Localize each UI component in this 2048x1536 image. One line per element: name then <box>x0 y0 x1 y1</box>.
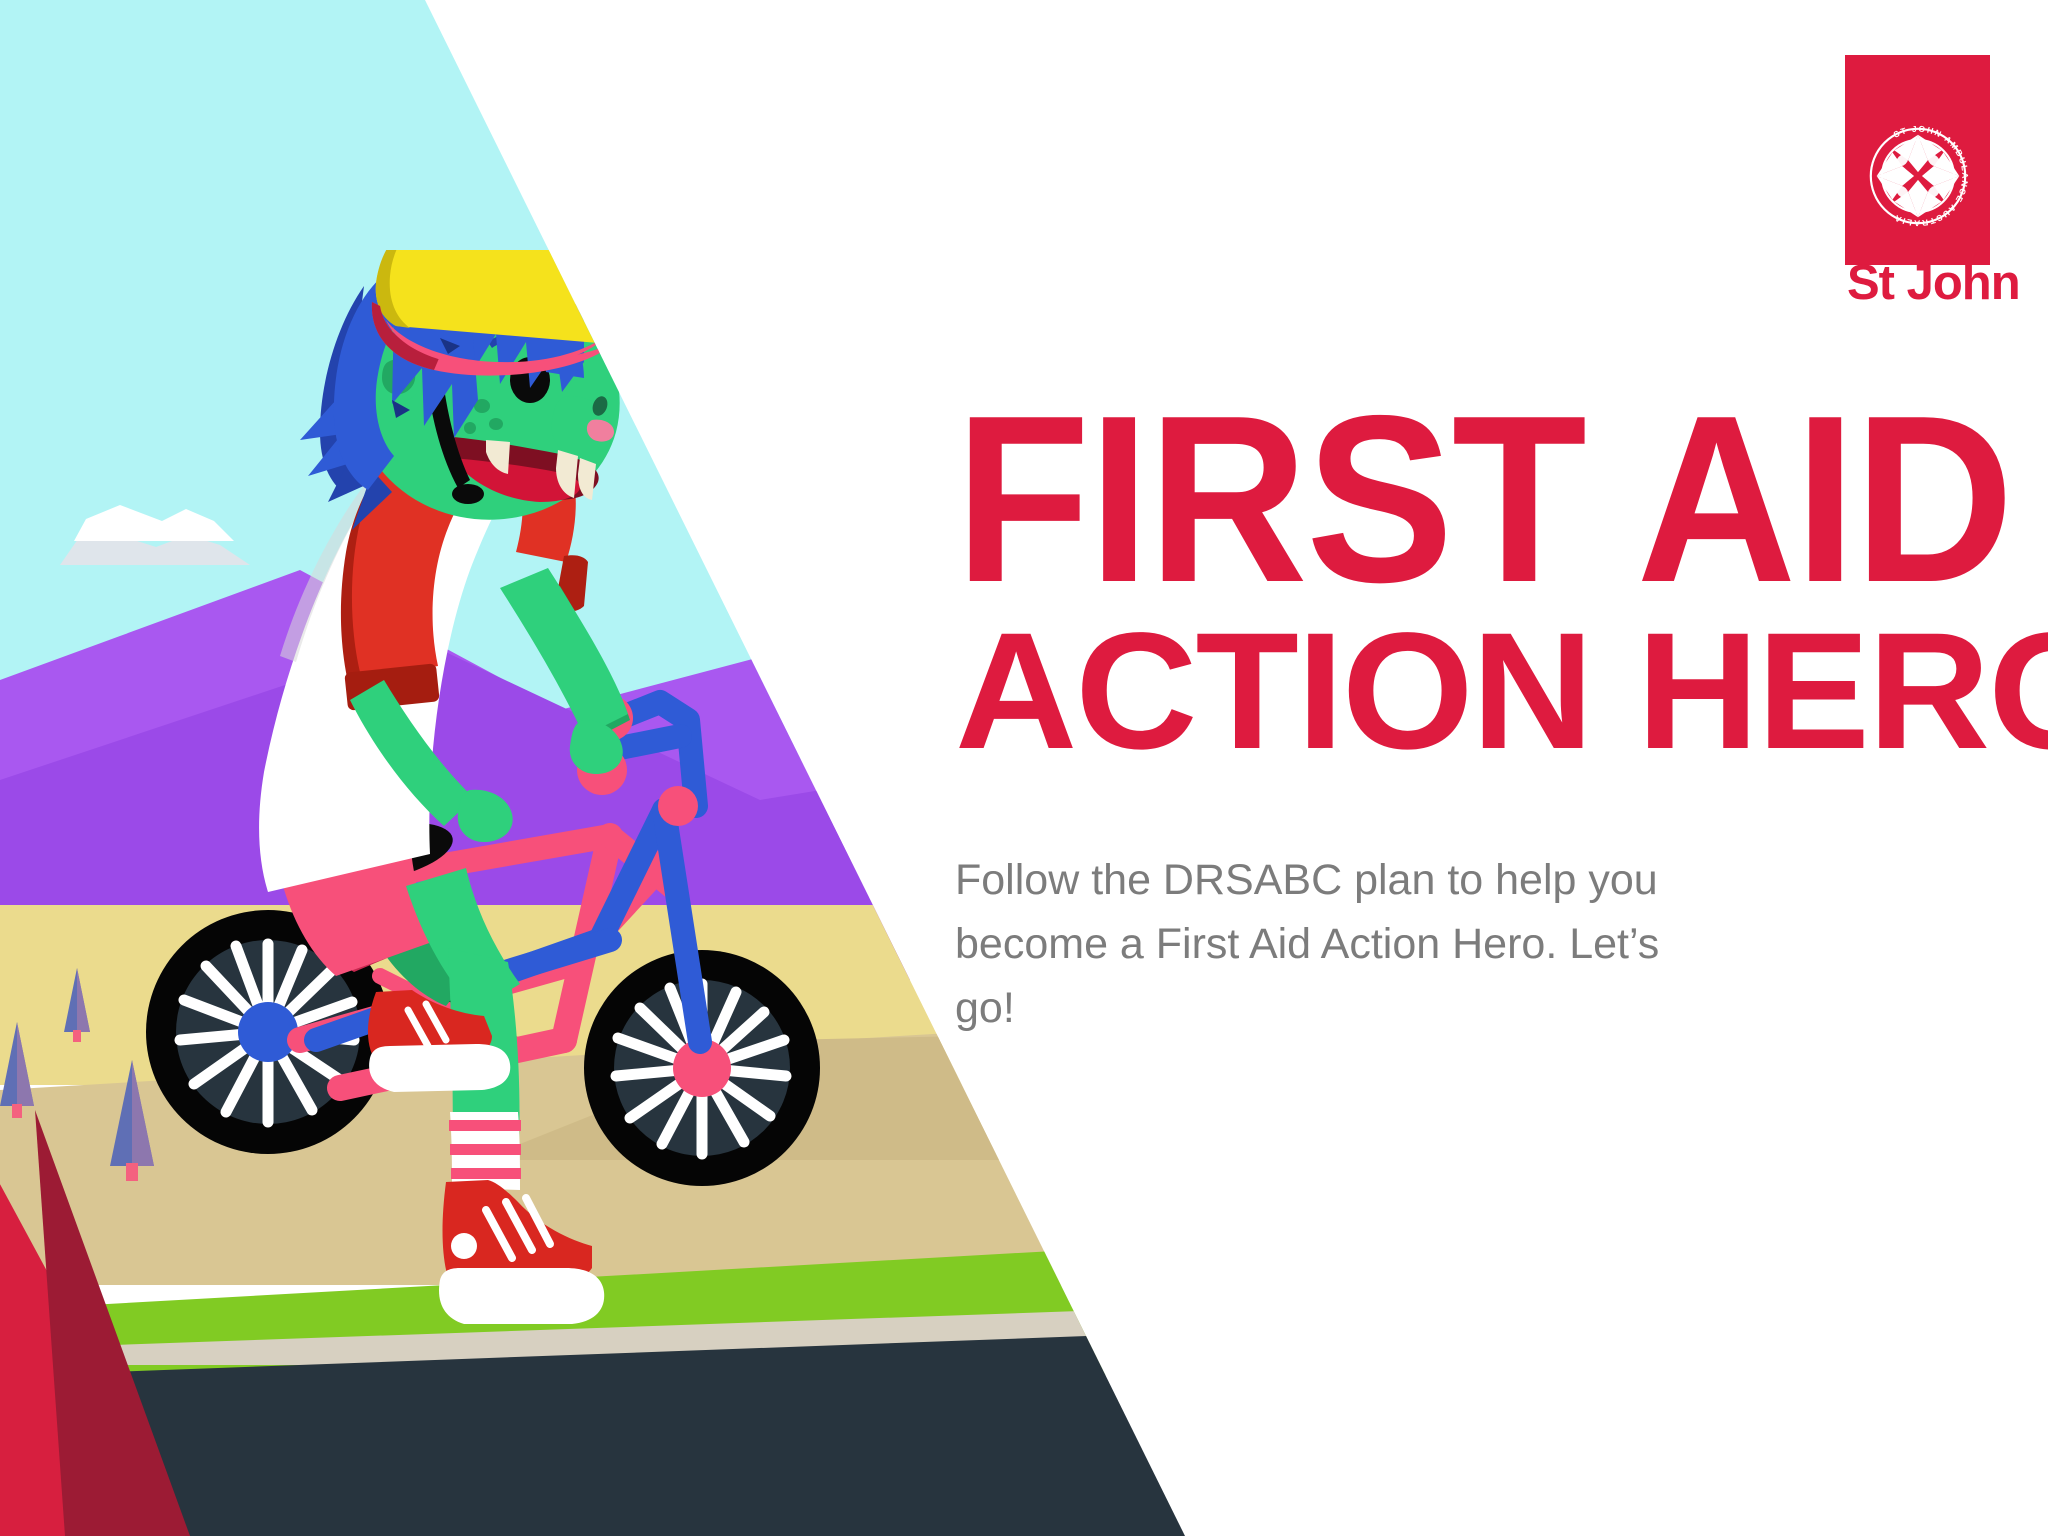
logo-wordmark: St John <box>1847 259 2020 308</box>
poster-canvas: FIRST AID ACTION HERO Follow the DRSABC … <box>0 0 2048 1536</box>
character-and-bike <box>140 250 940 1536</box>
st-john-logo[interactable]: ST JOHN AMBULANCE AUSTRALIA <box>1845 55 1990 310</box>
character-sock <box>449 1112 521 1190</box>
page-subtitle: Follow the DRSABC plan to help you becom… <box>955 849 1675 1040</box>
character-front-arm <box>500 568 630 774</box>
page-title-line-2: ACTION HERO <box>955 622 1975 761</box>
maltese-cross-emblem-icon: ST JOHN AMBULANCE AUSTRALIA <box>1859 117 1977 235</box>
page-title-line-1: FIRST AID <box>955 400 1885 600</box>
character-front-shoe <box>439 1180 604 1324</box>
hero-text-block: FIRST AID ACTION HERO Follow the DRSABC … <box>955 400 1955 1040</box>
